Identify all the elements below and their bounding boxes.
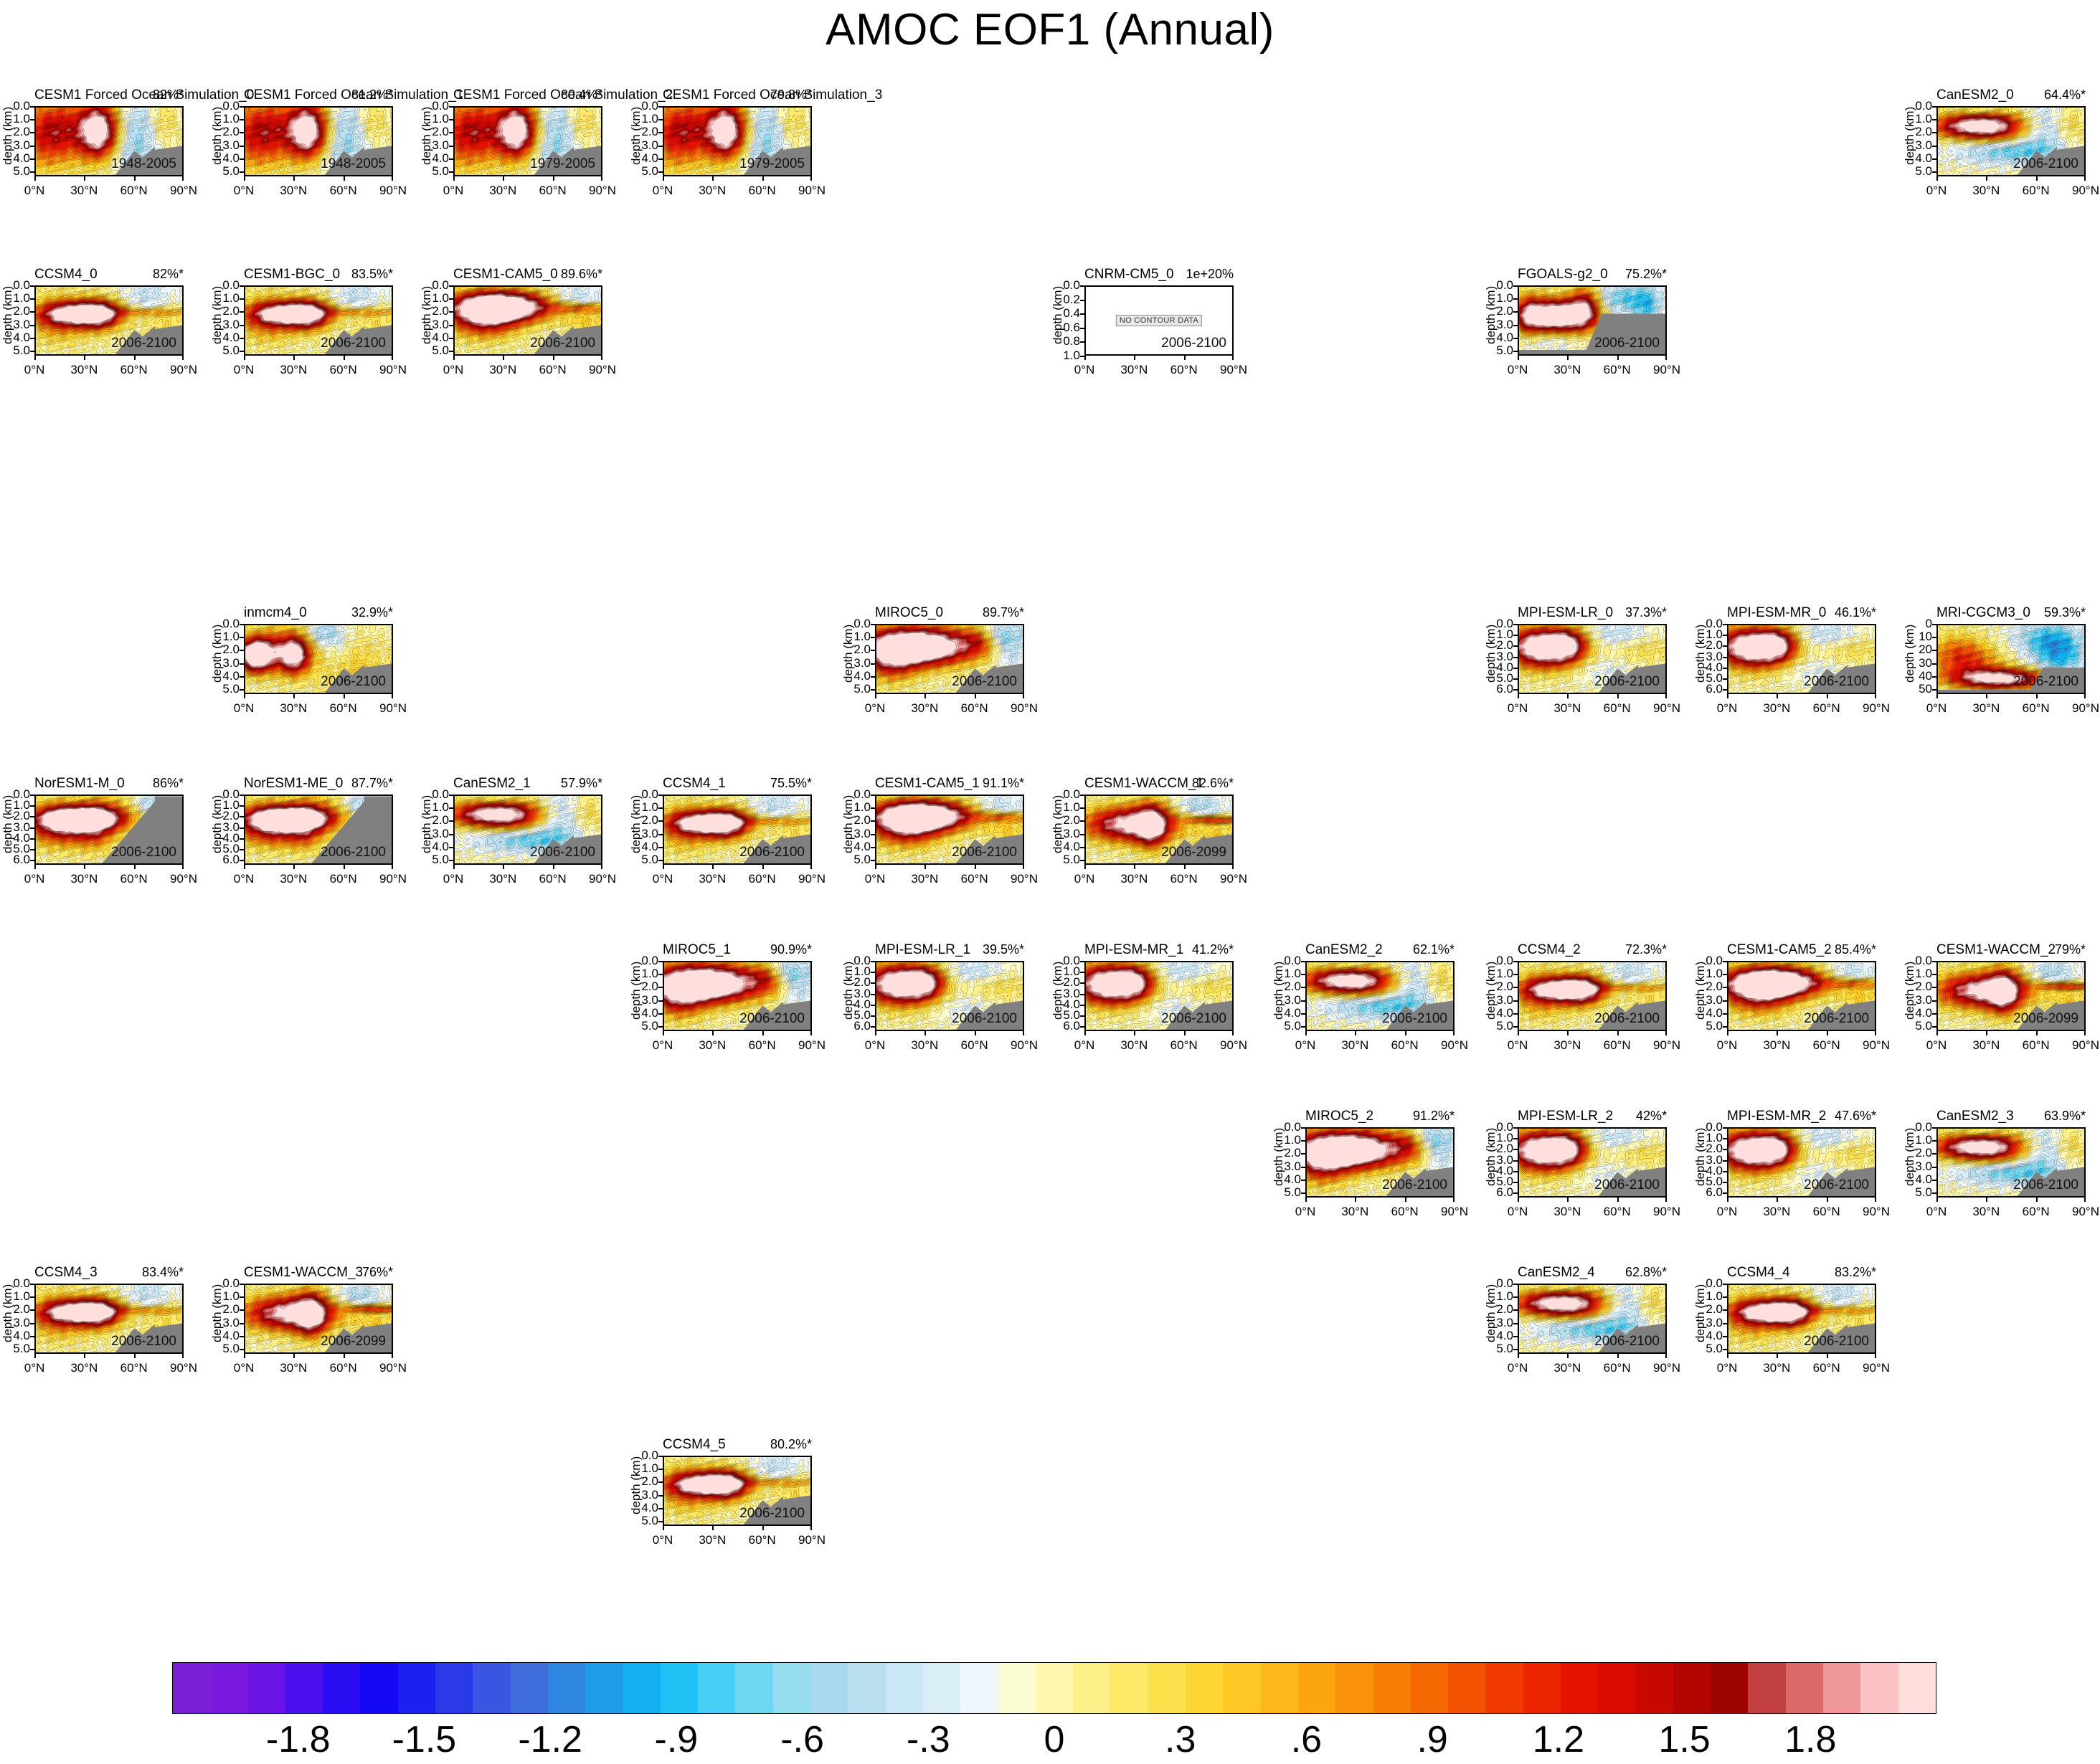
x-tick-label: 30°N [1543,363,1591,377]
y-tick-mark [1932,1013,1936,1015]
x-tick-mark [1665,1354,1667,1358]
y-tick-mark [30,119,34,120]
x-tick-label: 0°N [851,872,899,886]
y-tick-label: 6.0 [1,853,30,867]
y-tick-mark [871,820,875,822]
panel-variance-label: 42%* [1636,1109,1667,1124]
y-tick-mark [240,106,244,108]
panel-title: MPI-ESM-MR_0 [1727,605,1826,621]
y-tick-label: 3.0 [1903,1160,1932,1174]
colorbar-swatch [698,1663,735,1713]
y-tick-label: 4.0 [1485,1006,1513,1020]
y-tick-mark [1301,1153,1305,1154]
y-tick-mark [658,1481,663,1483]
x-tick-label: 30°N [900,1038,949,1053]
y-tick-mark [871,860,875,861]
colorbar-swatch [1261,1663,1298,1713]
panel-variance-label: 81.2%* [351,87,393,103]
panel-plot-area: 2006-2099 [1084,795,1234,865]
colorbar-swatch [473,1663,510,1713]
x-tick-mark [1518,1031,1519,1035]
x-tick-label: 90°N [1642,1205,1691,1219]
x-tick-label: 0°N [1281,1205,1330,1219]
x-tick-label: 60°N [738,1533,787,1547]
y-tick-mark [1513,1323,1518,1324]
x-tick-label: 90°N [1852,1361,1901,1375]
x-tick-label: 60°N [529,184,577,198]
x-tick-label: 30°N [478,363,527,377]
panel-period-label: 2006-2100 [1594,1334,1660,1350]
y-tick-label: 0.0 [630,787,658,802]
x-tick-mark [2036,176,2038,181]
x-tick-label: 90°N [369,872,417,886]
colorbar-swatch [1335,1663,1373,1713]
colorbar-swatch [1110,1663,1148,1713]
colorbar-tick-label: -1.2 [518,1718,582,1761]
y-tick-mark [1301,1167,1305,1168]
panel-period-label: 2006-2100 [739,845,805,860]
y-tick-label: 5.0 [630,1514,658,1528]
x-tick-label: 0°N [1912,184,1961,198]
panel-cesm1-cam5-1: CESM1-CAM5_191.1%*2006-2100depth (km)0.0… [875,795,1024,898]
y-tick-mark [1080,820,1084,822]
y-tick-mark [1513,1160,1518,1162]
y-tick-mark [1932,1153,1936,1154]
panel-variance-label: 62.8%* [1625,1265,1667,1280]
y-tick-label: 2.0 [1903,980,1932,994]
x-tick-mark [1355,1198,1356,1202]
y-tick-label: 4.0 [842,840,871,854]
y-tick-label: 2.0 [420,813,449,828]
y-tick-mark [30,158,34,160]
panel-period-label: 2006-2100 [1594,336,1660,351]
panel-plot-area: 2006-2100 [1518,285,1667,356]
x-tick-label: 60°N [1802,1361,1851,1375]
panel-variance-label: 79.8%* [770,87,812,103]
colorbar-swatch [810,1663,848,1713]
x-tick-mark [1405,1031,1406,1035]
x-tick-mark [1617,694,1619,698]
colorbar-swatch [1485,1663,1523,1713]
y-tick-mark [240,1323,244,1324]
y-tick-mark [1513,1182,1518,1183]
y-tick-label: 4.0 [630,1006,658,1020]
y-tick-mark [1932,1026,1936,1028]
y-tick-mark [1513,1000,1518,1002]
y-tick-label: 3.0 [1903,138,1932,153]
x-tick-label: 0°N [219,1361,268,1375]
y-tick-label: 1.0 [211,291,240,305]
y-tick-label: 2.0 [1485,980,1513,994]
x-tick-label: 0°N [429,184,478,198]
panel-period-label: 2006-2100 [321,845,386,860]
panel-title: CESM1-CAM5_0 [453,267,558,283]
y-tick-label: 4.0 [211,331,240,345]
colorbar-swatch [435,1663,473,1713]
x-tick-mark [244,1354,245,1358]
x-tick-label: 90°N [369,1361,417,1375]
panel-plot-area: 2006-2100 [663,1456,812,1526]
y-tick-mark [658,795,663,796]
y-tick-mark [1513,1149,1518,1150]
x-tick-mark [293,694,295,698]
y-tick-mark [1723,689,1727,691]
y-tick-mark [240,158,244,160]
y-tick-mark [871,663,875,665]
y-tick-mark [1513,1336,1518,1337]
y-tick-mark [1080,994,1084,995]
y-tick-label: 0.0 [630,99,658,113]
y-tick-mark [30,171,34,173]
y-tick-label: 1.0 [1903,967,1932,981]
x-tick-label: 90°N [1209,363,1258,377]
y-tick-label: 0.0 [1694,954,1723,968]
y-tick-label: 1.0 [630,800,658,815]
x-tick-mark [1134,865,1135,869]
y-tick-label: 3.0 [1,138,30,153]
x-tick-mark [1567,1354,1569,1358]
x-tick-mark [810,1526,812,1530]
y-tick-mark [1723,1309,1727,1311]
panel-variance-label: 80.4%* [561,87,602,103]
x-tick-label: 0°N [1493,1038,1542,1053]
x-tick-mark [1875,1198,1876,1202]
y-tick-mark [658,158,663,160]
y-tick-mark [1723,1336,1727,1337]
x-tick-label: 90°N [159,184,208,198]
x-tick-mark [1518,1354,1519,1358]
colorbar-swatch [248,1663,285,1713]
x-tick-label: 0°N [1281,1038,1330,1053]
y-tick-mark [1723,668,1727,669]
y-tick-mark [1513,1349,1518,1350]
y-tick-mark [1513,1296,1518,1298]
panel-title: MIROC5_2 [1305,1109,1373,1124]
y-tick-label: 2.0 [1,304,30,318]
x-tick-label: 0°N [429,872,478,886]
panel-plot-area: NO CONTOUR DATA2006-2100 [1084,285,1234,356]
x-tick-mark [2084,1031,2086,1035]
x-tick-mark [1617,356,1619,360]
y-tick-mark [658,834,663,835]
x-tick-label: 90°N [159,363,208,377]
panel-plot-area: 2006-2100 [875,624,1024,694]
x-tick-label: 30°N [1752,1361,1801,1375]
x-tick-label: 30°N [1543,1205,1591,1219]
y-tick-mark [30,106,34,108]
panel-cesm1-fos-1: CESM1 Forced Ocean Simulation_181.2%*194… [244,106,393,209]
y-tick-label: 3.0 [1,1316,30,1330]
y-tick-label: 40 [1903,669,1932,683]
x-tick-label: 90°N [369,184,417,198]
x-tick-label: 0°N [1493,1361,1542,1375]
x-tick-label: 60°N [110,363,159,377]
y-tick-label: 2.0 [1694,1302,1723,1317]
y-tick-mark [658,860,663,861]
panel-period-label: 2006-2100 [111,845,176,860]
y-tick-label: 1.0 [1051,348,1080,363]
x-tick-label: 60°N [319,872,368,886]
y-tick-mark [1301,1000,1305,1002]
y-tick-mark [1932,676,1936,678]
colorbar-swatch [1073,1663,1110,1713]
colorbar-tick-label: .9 [1416,1718,1447,1761]
y-tick-mark [240,325,244,326]
y-tick-mark [240,1309,244,1311]
panel-title: MIROC5_1 [663,942,731,958]
y-tick-label: 0.6 [1051,321,1080,335]
x-tick-label: 0°N [851,1038,899,1053]
x-tick-label: 60°N [738,184,787,198]
x-tick-mark [1827,1031,1828,1035]
y-tick-label: 3.0 [1051,827,1080,841]
y-tick-mark [1301,987,1305,988]
y-tick-mark [658,847,663,848]
y-tick-label: 1.0 [1694,1289,1723,1304]
x-tick-label: 30°N [1752,1038,1801,1053]
x-tick-mark [1023,694,1024,698]
x-tick-label: 60°N [2012,1038,2061,1053]
y-tick-label: 5.0 [1485,1019,1513,1033]
y-tick-label: 0.0 [842,787,871,802]
y-tick-label: 5.0 [842,853,871,867]
y-tick-label: 0.0 [1903,1120,1932,1134]
panel-variance-label: 87.7%* [351,776,393,791]
x-tick-mark [1936,176,1938,181]
x-tick-mark [875,694,876,698]
colorbar-tick-label: 1.2 [1533,1718,1584,1761]
y-tick-mark [658,974,663,975]
panel-ccsm4-2: CCSM4_272.3%*2006-2100depth (km)0.01.02.… [1518,961,1667,1064]
panel-variance-label: 75.2%* [1625,267,1667,282]
y-tick-mark [240,838,244,840]
y-tick-mark [1932,663,1936,665]
colorbar-swatch [1223,1663,1260,1713]
x-tick-mark [762,1031,764,1035]
x-tick-label: 30°N [60,363,108,377]
y-tick-label: 4.0 [1485,1329,1513,1343]
y-tick-label: 2.0 [1694,980,1723,994]
x-tick-mark [34,865,36,869]
panel-plot-area: 2006-2100 [1084,961,1234,1031]
panel-title: CanESM2_2 [1305,942,1383,958]
y-tick-mark [658,171,663,173]
y-tick-label: 2.0 [420,304,449,318]
x-tick-mark [34,176,36,181]
y-tick-label: 2.0 [1485,1302,1513,1317]
x-tick-mark [1518,356,1519,360]
no-contour-data-label: NO CONTOUR DATA [1116,315,1202,326]
y-tick-label: 1.0 [630,1461,658,1476]
x-tick-label: 90°N [1430,1038,1479,1053]
panel-variance-label: 46.1%* [1835,605,1876,620]
panel-mpi-esm-lr-0: MPI-ESM-LR_037.3%*2006-2100depth (km)0.0… [1518,624,1667,727]
y-tick-mark [240,849,244,850]
x-tick-label: 60°N [1160,872,1209,886]
x-tick-mark [84,865,85,869]
x-tick-mark [134,1354,136,1358]
y-tick-mark [1301,974,1305,975]
y-tick-mark [658,1521,663,1522]
y-tick-mark [30,1284,34,1285]
y-tick-mark [1513,351,1518,352]
y-tick-label: 3.0 [842,827,871,841]
y-tick-label: 3.0 [1272,1160,1301,1174]
y-tick-mark [449,171,453,173]
y-tick-mark [240,828,244,829]
y-tick-mark [1080,961,1084,962]
x-tick-mark [392,865,393,869]
y-tick-label: 2.0 [1485,304,1513,318]
x-tick-label: 60°N [319,701,368,716]
panel-period-label: 2006-2100 [1382,1011,1447,1027]
y-tick-label: 2.0 [630,813,658,828]
y-tick-mark [1932,1167,1936,1168]
panel-cesm1-cam5-2: CESM1-CAM5_285.4%*2006-2100depth (km)0.0… [1727,961,1876,1064]
panel-plot-area: 2006-2100 [1518,1127,1667,1198]
x-tick-label: 90°N [1852,701,1901,716]
x-tick-label: 60°N [1593,363,1642,377]
x-tick-label: 90°N [787,872,836,886]
x-tick-label: 30°N [1110,363,1158,377]
y-tick-mark [30,1336,34,1337]
y-tick-mark [449,119,453,120]
x-tick-label: 0°N [10,363,59,377]
y-tick-mark [449,285,453,287]
colorbar-swatch [886,1663,923,1713]
y-tick-mark [240,624,244,625]
y-tick-label: 5.0 [420,164,449,179]
x-tick-mark [712,1031,714,1035]
x-tick-label: 90°N [1209,872,1258,886]
y-tick-mark [1080,1026,1084,1028]
panel-period-label: 1979-2005 [530,156,595,172]
y-tick-mark [30,816,34,817]
y-tick-mark [1932,1140,1936,1142]
x-tick-label: 90°N [2061,184,2100,198]
x-tick-label: 30°N [478,184,527,198]
y-tick-label: 5.0 [420,853,449,867]
colorbar-swatch [998,1663,1036,1713]
y-tick-mark [240,132,244,133]
y-tick-mark [449,338,453,339]
x-tick-label: 0°N [429,363,478,377]
y-tick-label: 5.0 [1903,164,1932,179]
y-tick-label: 4.0 [1903,151,1932,166]
panel-title: CanESM2_4 [1518,1265,1595,1281]
x-tick-mark [293,176,295,181]
y-tick-label: 1.0 [211,112,240,126]
x-tick-mark [1567,694,1569,698]
x-tick-mark [1518,694,1519,698]
panel-plot-area: 2006-2100 [244,795,393,865]
x-tick-mark [134,356,136,360]
y-tick-mark [658,119,663,120]
x-tick-mark [1184,356,1186,360]
x-tick-mark [1727,1031,1728,1035]
y-tick-mark [1513,974,1518,975]
y-tick-label: 4.0 [1051,840,1080,854]
y-tick-mark [240,805,244,807]
y-tick-mark [1932,1192,1936,1194]
x-tick-label: 60°N [950,872,999,886]
panel-period-label: 2006-2100 [952,845,1017,860]
x-tick-mark [1875,694,1876,698]
panel-variance-label: 37.3%* [1625,605,1667,620]
y-tick-mark [240,816,244,817]
panel-ccsm4-3: CCSM4_383.4%*2006-2100depth (km)0.01.02.… [34,1284,184,1387]
x-tick-label: 30°N [1330,1205,1379,1219]
panel-title: CCSM4_5 [663,1437,726,1453]
y-tick-label: 4.0 [1272,1172,1301,1187]
panel-plot-area: 2006-2099 [1936,961,2086,1031]
x-tick-label: 60°N [1593,701,1642,716]
y-tick-label: 0.0 [630,1448,658,1463]
panel-title: MRI-CGCM3_0 [1936,605,2030,621]
y-tick-mark [1723,645,1727,647]
panel-cesm1-cam5-0: CESM1-CAM5_089.6%*2006-2100depth (km)0.0… [453,285,602,389]
y-tick-mark [30,1323,34,1324]
panel-period-label: 2006-2099 [321,1334,386,1350]
y-tick-label: 2.0 [1903,1146,1932,1160]
y-tick-label: 1.0 [1903,112,1932,126]
panel-period-label: 1948-2005 [321,156,386,172]
y-tick-mark [658,132,663,133]
colorbar-swatch [661,1663,698,1713]
x-tick-mark [810,176,812,181]
y-tick-label: 0.0 [1051,787,1080,802]
y-tick-mark [30,311,34,313]
x-tick-mark [553,176,554,181]
x-tick-label: 60°N [110,184,159,198]
x-tick-label: 30°N [1962,1038,2010,1053]
x-tick-label: 90°N [1000,701,1049,716]
x-tick-label: 30°N [60,184,108,198]
y-tick-mark [449,795,453,796]
x-tick-mark [1023,1031,1024,1035]
x-tick-label: 0°N [219,363,268,377]
y-tick-label: 3.0 [630,138,658,153]
y-tick-label: 4.0 [420,151,449,166]
y-tick-mark [871,847,875,848]
y-tick-mark [449,311,453,313]
y-tick-mark [1513,338,1518,339]
x-tick-mark [453,176,455,181]
colorbar-swatch [323,1663,360,1713]
x-tick-label: 60°N [1802,1038,1851,1053]
panel-title: MPI-ESM-LR_2 [1518,1109,1613,1124]
x-tick-mark [344,865,345,869]
panel-title: CCSM4_0 [34,267,98,283]
panel-title: NorESM1-M_0 [34,776,125,792]
y-tick-label: 20 [1903,642,1932,657]
x-tick-label: 90°N [1642,363,1691,377]
panel-plot-area: 2006-2100 [34,795,184,865]
colorbar-swatch [173,1663,210,1713]
panel-plot-area: 2006-2100 [1936,1127,2086,1198]
x-tick-mark [1617,1031,1619,1035]
y-tick-label: 1.0 [1694,967,1723,981]
y-tick-label: 5.0 [1051,853,1080,867]
y-tick-mark [1932,637,1936,638]
panel-title: CCSM4_2 [1518,942,1581,958]
y-tick-label: 0 [1903,617,1932,631]
panel-period-label: 2006-2100 [1594,1177,1660,1193]
y-tick-mark [240,676,244,678]
panel-cnrm-cm5-0: CNRM-CM5_01e+20%NO CONTOUR DATA2006-2100… [1084,285,1234,389]
x-tick-mark [601,865,602,869]
panel-plot-area: 2006-2100 [453,285,602,356]
